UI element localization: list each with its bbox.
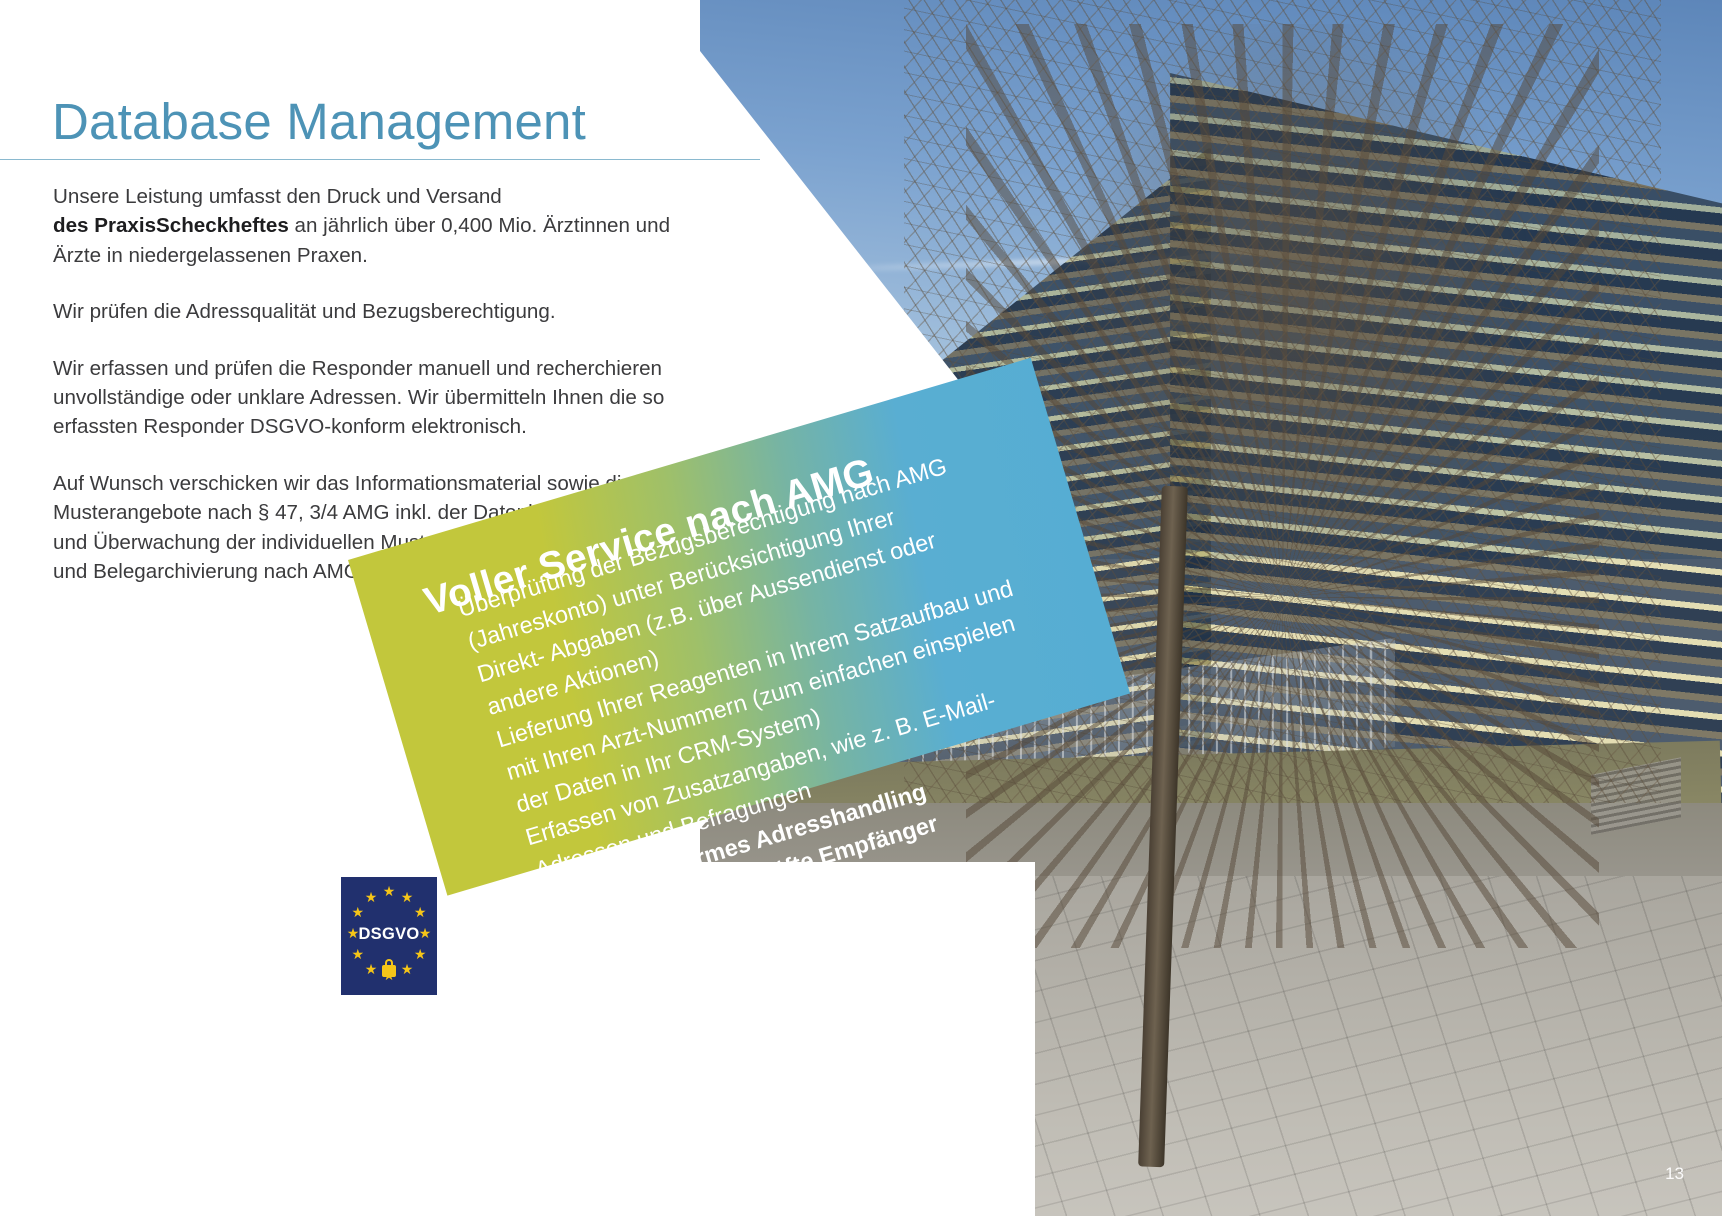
eu-star-icon: ★	[364, 890, 378, 904]
dsgvo-badge-label: DSGVO	[341, 925, 437, 944]
paragraph-1: Unsere Leistung umfasst den Druck und Ve…	[53, 182, 673, 270]
title-divider	[0, 159, 760, 160]
eu-star-icon: ★	[351, 947, 365, 961]
paragraph-1-bold: des PraxisScheckheftes	[53, 214, 289, 237]
paragraph-1-lead: Unsere Leistung umfasst den Druck und Ve…	[53, 185, 502, 208]
eu-star-icon: ★	[382, 884, 396, 898]
eu-star-icon: ★	[400, 962, 414, 976]
eu-star-icon: ★	[351, 905, 365, 919]
page-number: 13	[1665, 1164, 1684, 1184]
slide-root: Database Management Unsere Leistung umfa…	[0, 0, 1722, 1216]
page-title: Database Management	[52, 92, 586, 151]
service-card-wrapper: Voller Service nach AMG Überprüfung der …	[348, 560, 1088, 1090]
paragraph-2: Wir prüfen die Adressqualität und Bezugs…	[53, 297, 673, 326]
paragraph-3: Wir erfassen und prüfen die Responder ma…	[53, 354, 673, 442]
eu-star-icon: ★	[400, 890, 414, 904]
eu-star-icon: ★	[413, 905, 427, 919]
eu-star-icon: ★	[413, 947, 427, 961]
dsgvo-badge: ★★★★★★★★★★★★ DSGVO	[341, 877, 437, 995]
lock-icon	[382, 965, 396, 977]
eu-star-icon: ★	[364, 962, 378, 976]
